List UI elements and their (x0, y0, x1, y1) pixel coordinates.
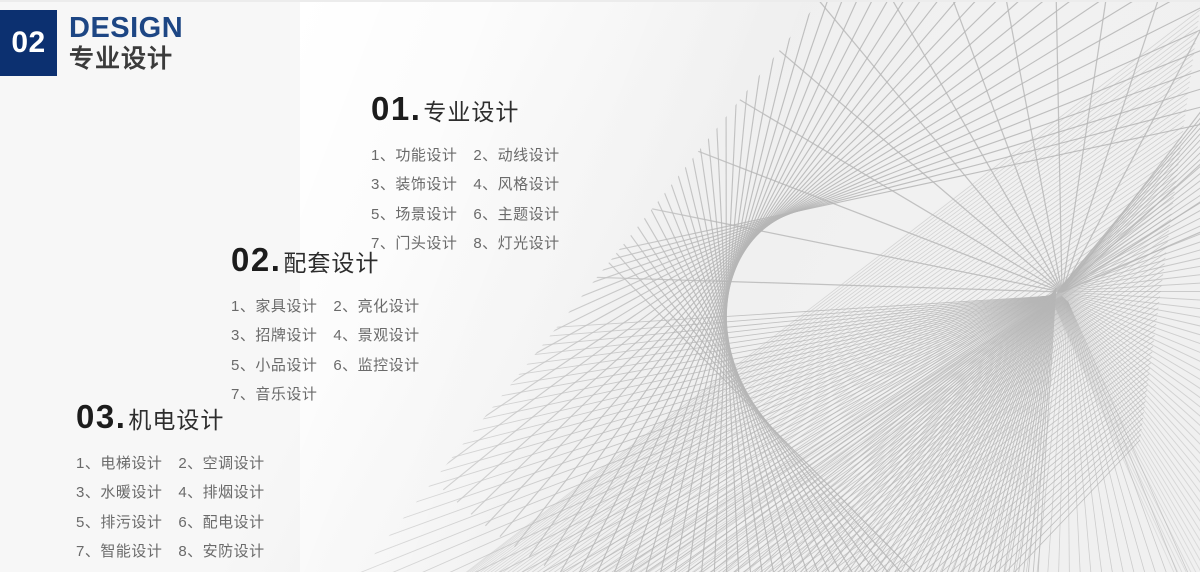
block-01-list: 1、功能设计 2、动线设计 3、装饰设计 4、风格设计 5、场景设计 6、主题设… (371, 144, 560, 255)
block-03-heading: 03. 机电设计 (76, 398, 265, 436)
block-01-index: 01. (371, 90, 421, 128)
header-title-en: DESIGN (69, 14, 183, 43)
block-03-list: 1、电梯设计 2、空调设计 3、水暖设计 4、排烟设计 5、排污设计 6、配电设… (76, 452, 265, 563)
list-item: 2、动线设计 (473, 144, 559, 167)
list-item: 2、空调设计 (178, 452, 264, 475)
block-03-title: 机电设计 (128, 401, 224, 435)
block-02-heading: 02. 配套设计 (231, 241, 420, 279)
section-number-badge: 02 (0, 10, 57, 76)
list-item: 8、安防设计 (178, 540, 264, 563)
top-divider-rule (0, 0, 1200, 2)
block-01-title: 专业设计 (423, 93, 519, 127)
list-item: 1、电梯设计 (76, 452, 162, 475)
list-item: 5、小品设计 (231, 354, 317, 377)
slide-canvas: 02 DESIGN 专业设计 01. 专业设计 1、功能设计 2、动线设计 3、… (0, 0, 1200, 572)
list-item: 6、主题设计 (473, 203, 559, 226)
list-item: 6、配电设计 (178, 511, 264, 534)
list-item: 4、排烟设计 (178, 481, 264, 504)
list-item: 4、风格设计 (473, 173, 559, 196)
block-01-heading: 01. 专业设计 (371, 90, 560, 128)
list-item: 3、水暖设计 (76, 481, 162, 504)
block-02-list: 1、家具设计 2、亮化设计 3、招牌设计 4、景观设计 5、小品设计 6、监控设… (231, 295, 420, 406)
list-item: 5、场景设计 (371, 203, 457, 226)
list-item: 5、排污设计 (76, 511, 162, 534)
content-block-01: 01. 专业设计 1、功能设计 2、动线设计 3、装饰设计 4、风格设计 5、场… (371, 90, 560, 255)
content-block-02: 02. 配套设计 1、家具设计 2、亮化设计 3、招牌设计 4、景观设计 5、小… (231, 241, 420, 406)
header-title-group: DESIGN 专业设计 (69, 10, 183, 76)
list-item: 6、监控设计 (333, 354, 419, 377)
list-item: 7、智能设计 (76, 540, 162, 563)
list-item: 3、招牌设计 (231, 324, 317, 347)
list-item: 4、景观设计 (333, 324, 419, 347)
content-block-03: 03. 机电设计 1、电梯设计 2、空调设计 3、水暖设计 4、排烟设计 5、排… (76, 398, 265, 563)
list-item: 3、装饰设计 (371, 173, 457, 196)
list-item: 8、灯光设计 (473, 232, 559, 255)
header-title-cn: 专业设计 (69, 47, 183, 72)
block-02-title: 配套设计 (283, 244, 379, 278)
block-02-index: 02. (231, 241, 281, 279)
slide-header: 02 DESIGN 专业设计 (0, 10, 183, 76)
block-03-index: 03. (76, 398, 126, 436)
list-item: 1、家具设计 (231, 295, 317, 318)
list-item: 1、功能设计 (371, 144, 457, 167)
list-item: 2、亮化设计 (333, 295, 419, 318)
